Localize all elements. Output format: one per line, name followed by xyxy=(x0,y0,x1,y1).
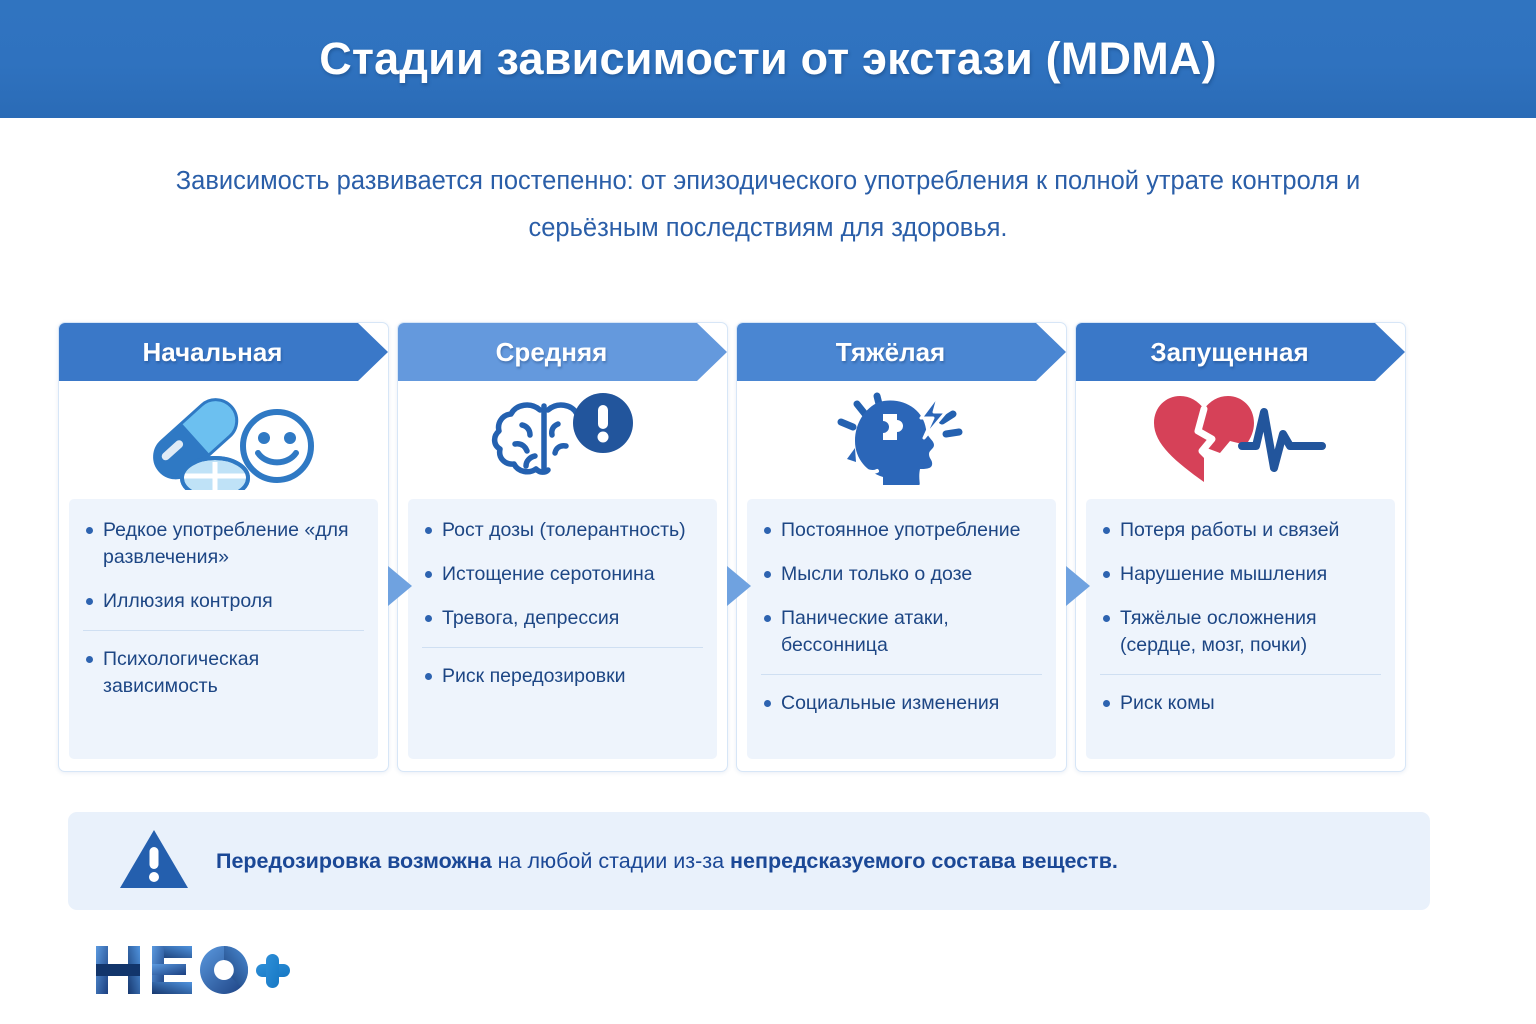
list-item: Потеря работы и связей xyxy=(1100,517,1381,544)
stage-card-srednyaya[interactable]: Средняя Рост дозы (толерантность) Истоще… xyxy=(397,322,728,772)
stage-card-zapushchennaya[interactable]: Запущенная Потеря работы и связей Наруше… xyxy=(1075,322,1406,772)
stage-label-2: Средняя xyxy=(496,337,608,368)
warning-text: Передозировка возможна на любой стадии и… xyxy=(216,846,1118,876)
stage-banner-1: Начальная xyxy=(59,323,388,381)
bullets-panel-1: Редкое употребление «для развлечения» Ил… xyxy=(69,499,378,759)
list-item: Психологическая зависимость xyxy=(83,630,364,700)
list-item: Тревога, депрессия xyxy=(422,605,703,632)
stage-card-tyazhelaya[interactable]: Тяжёлая Постоянное уп xyxy=(736,322,1067,772)
list-item: Панические атаки, бессонница xyxy=(761,605,1042,659)
warning-bold-2: непредсказуемого состава веществ. xyxy=(730,849,1118,873)
list-item: Риск передозировки xyxy=(422,647,703,690)
brain-alert-icon xyxy=(398,381,727,499)
list-item: Истощение серотонина xyxy=(422,561,703,588)
stage-banner-3: Тяжёлая xyxy=(737,323,1066,381)
stage-banner-2: Средняя xyxy=(398,323,727,381)
stage-label-1: Начальная xyxy=(143,337,283,368)
subtitle-line-1: Зависимость развивается постепенно: от э… xyxy=(176,167,1224,195)
warning-normal-1: на любой стадии из-за xyxy=(492,849,730,873)
pills-smiley-icon xyxy=(59,381,388,499)
page-title: Стадии зависимости от экстази (MDMA) xyxy=(319,33,1217,85)
list-item: Мысли только о дозе xyxy=(761,561,1042,588)
list-item: Нарушение мышления xyxy=(1100,561,1381,588)
stage-label-4: Запущенная xyxy=(1150,337,1308,368)
list-item: Иллюзия контроля xyxy=(83,588,364,615)
stage-card-nachalnaya[interactable]: Начальная xyxy=(58,322,389,772)
subtitle: Зависимость развивается постепенно: от э… xyxy=(168,158,1368,252)
bullets-panel-2: Рост дозы (толерантность) Истощение серо… xyxy=(408,499,717,759)
bullet-list-3: Постоянное употребление Мысли только о д… xyxy=(761,517,1042,717)
bullet-list-4: Потеря работы и связей Нарушение мышлени… xyxy=(1100,517,1381,717)
bullet-list-2: Рост дозы (толерантность) Истощение серо… xyxy=(422,517,703,690)
bullet-list-1: Редкое употребление «для развлечения» Ил… xyxy=(83,517,364,700)
list-item: Постоянное употребление xyxy=(761,517,1042,544)
bullets-panel-3: Постоянное употребление Мысли только о д… xyxy=(747,499,1056,759)
head-puzzle-lightning-icon xyxy=(737,381,1066,499)
warning-bold-1: Передозировка возможна xyxy=(216,849,492,873)
stage-connector-arrow-1 xyxy=(388,566,414,606)
stage-connector-arrow-2 xyxy=(727,566,753,606)
list-item: Редкое употребление «для развлечения» xyxy=(83,517,364,571)
list-item: Рост дозы (толерантность) xyxy=(422,517,703,544)
list-item: Риск комы xyxy=(1100,674,1381,717)
stage-banner-4: Запущенная xyxy=(1076,323,1405,381)
stage-connector-arrow-3 xyxy=(1066,566,1092,606)
list-item: Тяжёлые осложнения (сердце, мозг, почки) xyxy=(1100,605,1381,659)
broken-heart-ecg-icon xyxy=(1076,381,1405,499)
stage-label-3: Тяжёлая xyxy=(836,337,945,368)
list-item: Социальные изменения xyxy=(761,674,1042,717)
bullets-panel-4: Потеря работы и связей Нарушение мышлени… xyxy=(1086,499,1395,759)
stages-row: Начальная xyxy=(58,322,1420,772)
warning-triangle-icon xyxy=(118,827,190,896)
header-band: Стадии зависимости от экстази (MDMA) xyxy=(0,0,1536,118)
logo-neo-plus[interactable] xyxy=(92,938,292,1002)
warning-bar: Передозировка возможна на любой стадии и… xyxy=(68,812,1430,910)
